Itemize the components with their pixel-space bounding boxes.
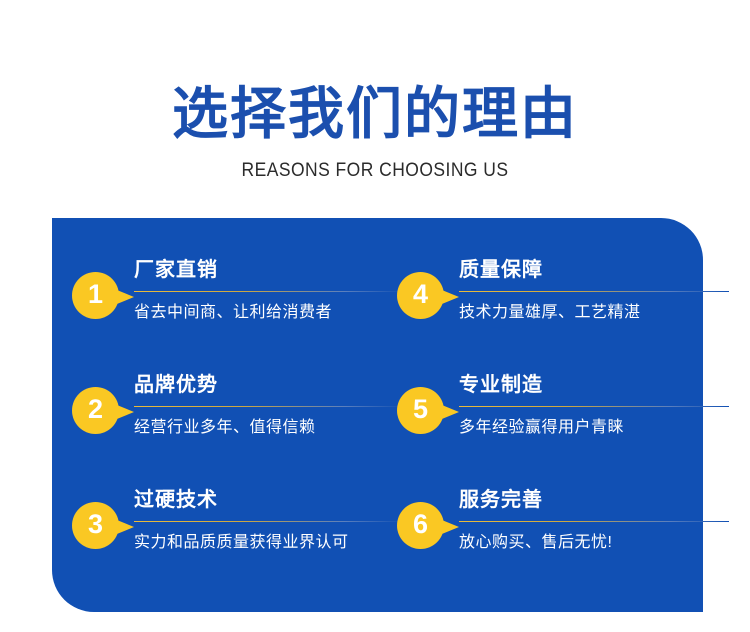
reason-number: 6 — [413, 511, 428, 538]
page-subtitle: REASONS FOR CHOOSING US — [30, 160, 720, 182]
reason-description: 实力和品质质量获得业界认可 — [134, 532, 412, 554]
reason-divider — [134, 406, 404, 407]
header: 选择我们的理由 REASONS FOR CHOOSING US — [0, 82, 750, 182]
promo-banner: 选择我们的理由 REASONS FOR CHOOSING US 1 厂家直销 省… — [0, 0, 750, 632]
reason-title: 服务完善 — [459, 488, 737, 516]
reason-body: 过硬技术 实力和品质质量获得业界认可 — [134, 488, 412, 572]
reason-description: 技术力量雄厚、工艺精湛 — [459, 302, 737, 324]
reason-badge-3: 3 — [72, 502, 119, 549]
reason-description: 放心购买、售后无忧! — [459, 532, 737, 554]
reason-description: 多年经验赢得用户青睐 — [459, 417, 737, 439]
reason-item-4: 4 质量保障 技术力量雄厚、工艺精湛 — [397, 258, 737, 342]
reason-divider — [459, 406, 729, 407]
reason-number: 3 — [88, 511, 103, 538]
reason-number: 4 — [413, 281, 428, 308]
reason-number: 1 — [88, 281, 103, 308]
reason-title: 厂家直销 — [134, 258, 412, 286]
reason-item-5: 5 专业制造 多年经验赢得用户青睐 — [397, 373, 737, 457]
reason-title: 品牌优势 — [134, 373, 412, 401]
reason-item-3: 3 过硬技术 实力和品质质量获得业界认可 — [72, 488, 412, 572]
reason-divider — [134, 521, 404, 522]
reason-title: 专业制造 — [459, 373, 737, 401]
reason-body: 品牌优势 经营行业多年、值得信赖 — [134, 373, 412, 457]
reason-description: 经营行业多年、值得信赖 — [134, 417, 412, 439]
reason-body: 服务完善 放心购买、售后无忧! — [459, 488, 737, 572]
reason-divider — [459, 291, 729, 292]
reason-badge-1: 1 — [72, 272, 119, 319]
reason-number: 2 — [88, 396, 103, 423]
reason-title: 过硬技术 — [134, 488, 412, 516]
reason-badge-5: 5 — [397, 387, 444, 434]
reason-item-2: 2 品牌优势 经营行业多年、值得信赖 — [72, 373, 412, 457]
reason-badge-2: 2 — [72, 387, 119, 434]
reason-body: 专业制造 多年经验赢得用户青睐 — [459, 373, 737, 457]
reason-number: 5 — [413, 396, 428, 423]
page-title: 选择我们的理由 — [0, 82, 750, 146]
reason-title: 质量保障 — [459, 258, 737, 286]
reason-item-6: 6 服务完善 放心购买、售后无忧! — [397, 488, 737, 572]
reason-badge-6: 6 — [397, 502, 444, 549]
reason-divider — [134, 291, 404, 292]
reason-body: 质量保障 技术力量雄厚、工艺精湛 — [459, 258, 737, 342]
reason-body: 厂家直销 省去中间商、让利给消费者 — [134, 258, 412, 342]
reason-description: 省去中间商、让利给消费者 — [134, 302, 412, 324]
reason-divider — [459, 521, 729, 522]
reasons-panel: 1 厂家直销 省去中间商、让利给消费者 2 品牌优势 经营行业多年、值得信赖 — [52, 218, 703, 612]
reason-badge-4: 4 — [397, 272, 444, 319]
reason-item-1: 1 厂家直销 省去中间商、让利给消费者 — [72, 258, 412, 342]
reasons-grid: 1 厂家直销 省去中间商、让利给消费者 2 品牌优势 经营行业多年、值得信赖 — [52, 218, 703, 612]
